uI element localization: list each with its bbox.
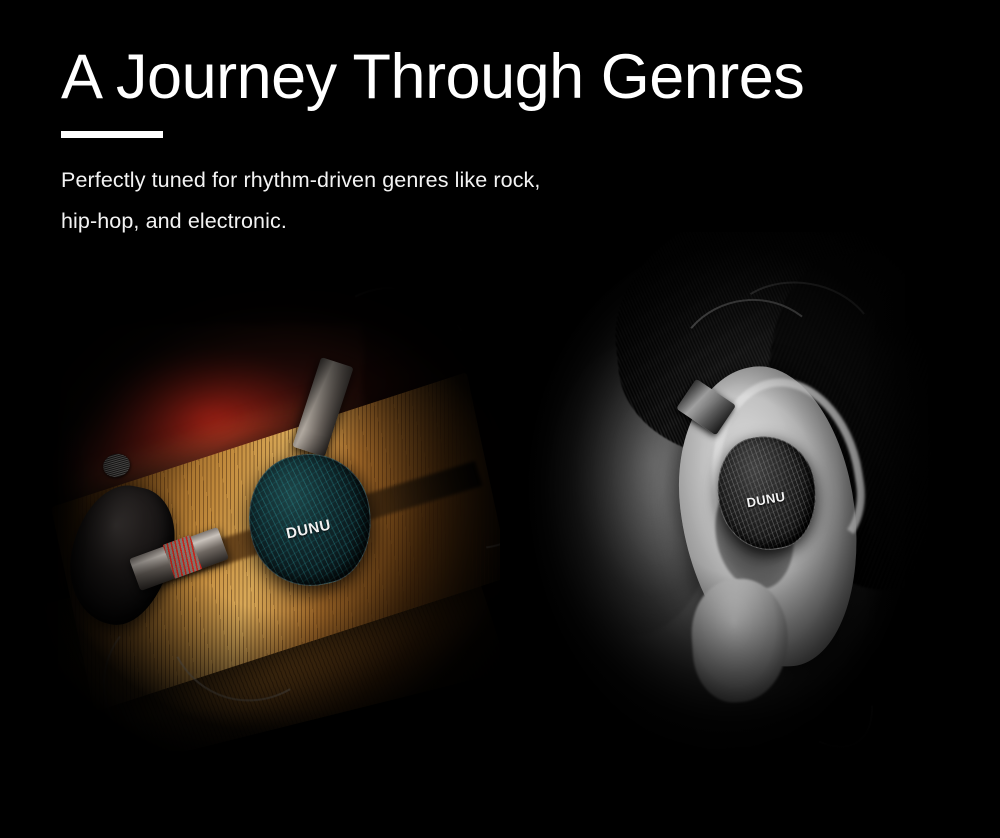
title-accent-rule (61, 131, 163, 138)
product-photo-left: DUNU (20, 282, 540, 802)
header-text-block: A Journey Through Genres Perfectly tuned… (61, 46, 921, 242)
product-photo-right: DUNU (500, 232, 980, 792)
page-title: A Journey Through Genres (61, 46, 921, 109)
right-photo-inner: DUNU (500, 232, 980, 792)
subtitle-line-2: hip-hop, and electronic. (61, 201, 921, 242)
subtitle: Perfectly tuned for rhythm-driven genres… (61, 160, 921, 242)
photo-stage: DUNU DUNU (0, 232, 1000, 838)
promo-banner: DUNU DUNU (0, 0, 1000, 838)
left-photo-inner: DUNU (20, 282, 540, 802)
subtitle-line-1: Perfectly tuned for rhythm-driven genres… (61, 160, 921, 201)
